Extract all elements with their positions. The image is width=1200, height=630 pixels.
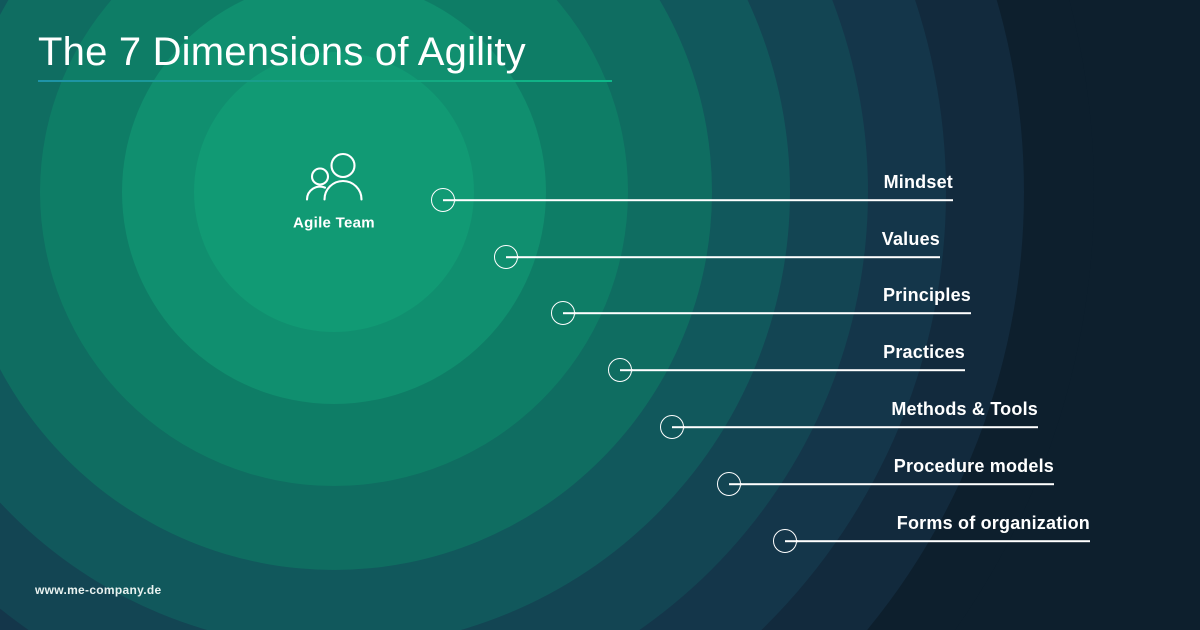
dimension-spokes: MindsetValuesPrinciplesPracticesMethods … <box>0 0 1200 630</box>
infographic-canvas: The 7 Dimensions of Agility Agile Team M… <box>0 0 1200 630</box>
dimension-label[interactable]: Procedure models <box>894 456 1054 477</box>
dimension-label[interactable]: Values <box>882 229 940 250</box>
footer-website-url: www.me-company.de <box>35 583 161 597</box>
dimension-connector-line <box>455 199 953 201</box>
dimension-connector-line <box>797 540 1090 542</box>
dimension-label[interactable]: Methods & Tools <box>891 399 1038 420</box>
dimension-label[interactable]: Principles <box>883 285 971 306</box>
dimension-label[interactable]: Mindset <box>884 172 953 193</box>
dimension-connector-line <box>632 369 965 371</box>
dimension-connector-line <box>575 312 971 314</box>
dimension-connector-line <box>741 483 1054 485</box>
dimension-connector-line <box>684 426 1038 428</box>
dimension-label[interactable]: Practices <box>883 342 965 363</box>
dimension-label[interactable]: Forms of organization <box>897 513 1090 534</box>
dimension-connector-line <box>518 256 940 258</box>
